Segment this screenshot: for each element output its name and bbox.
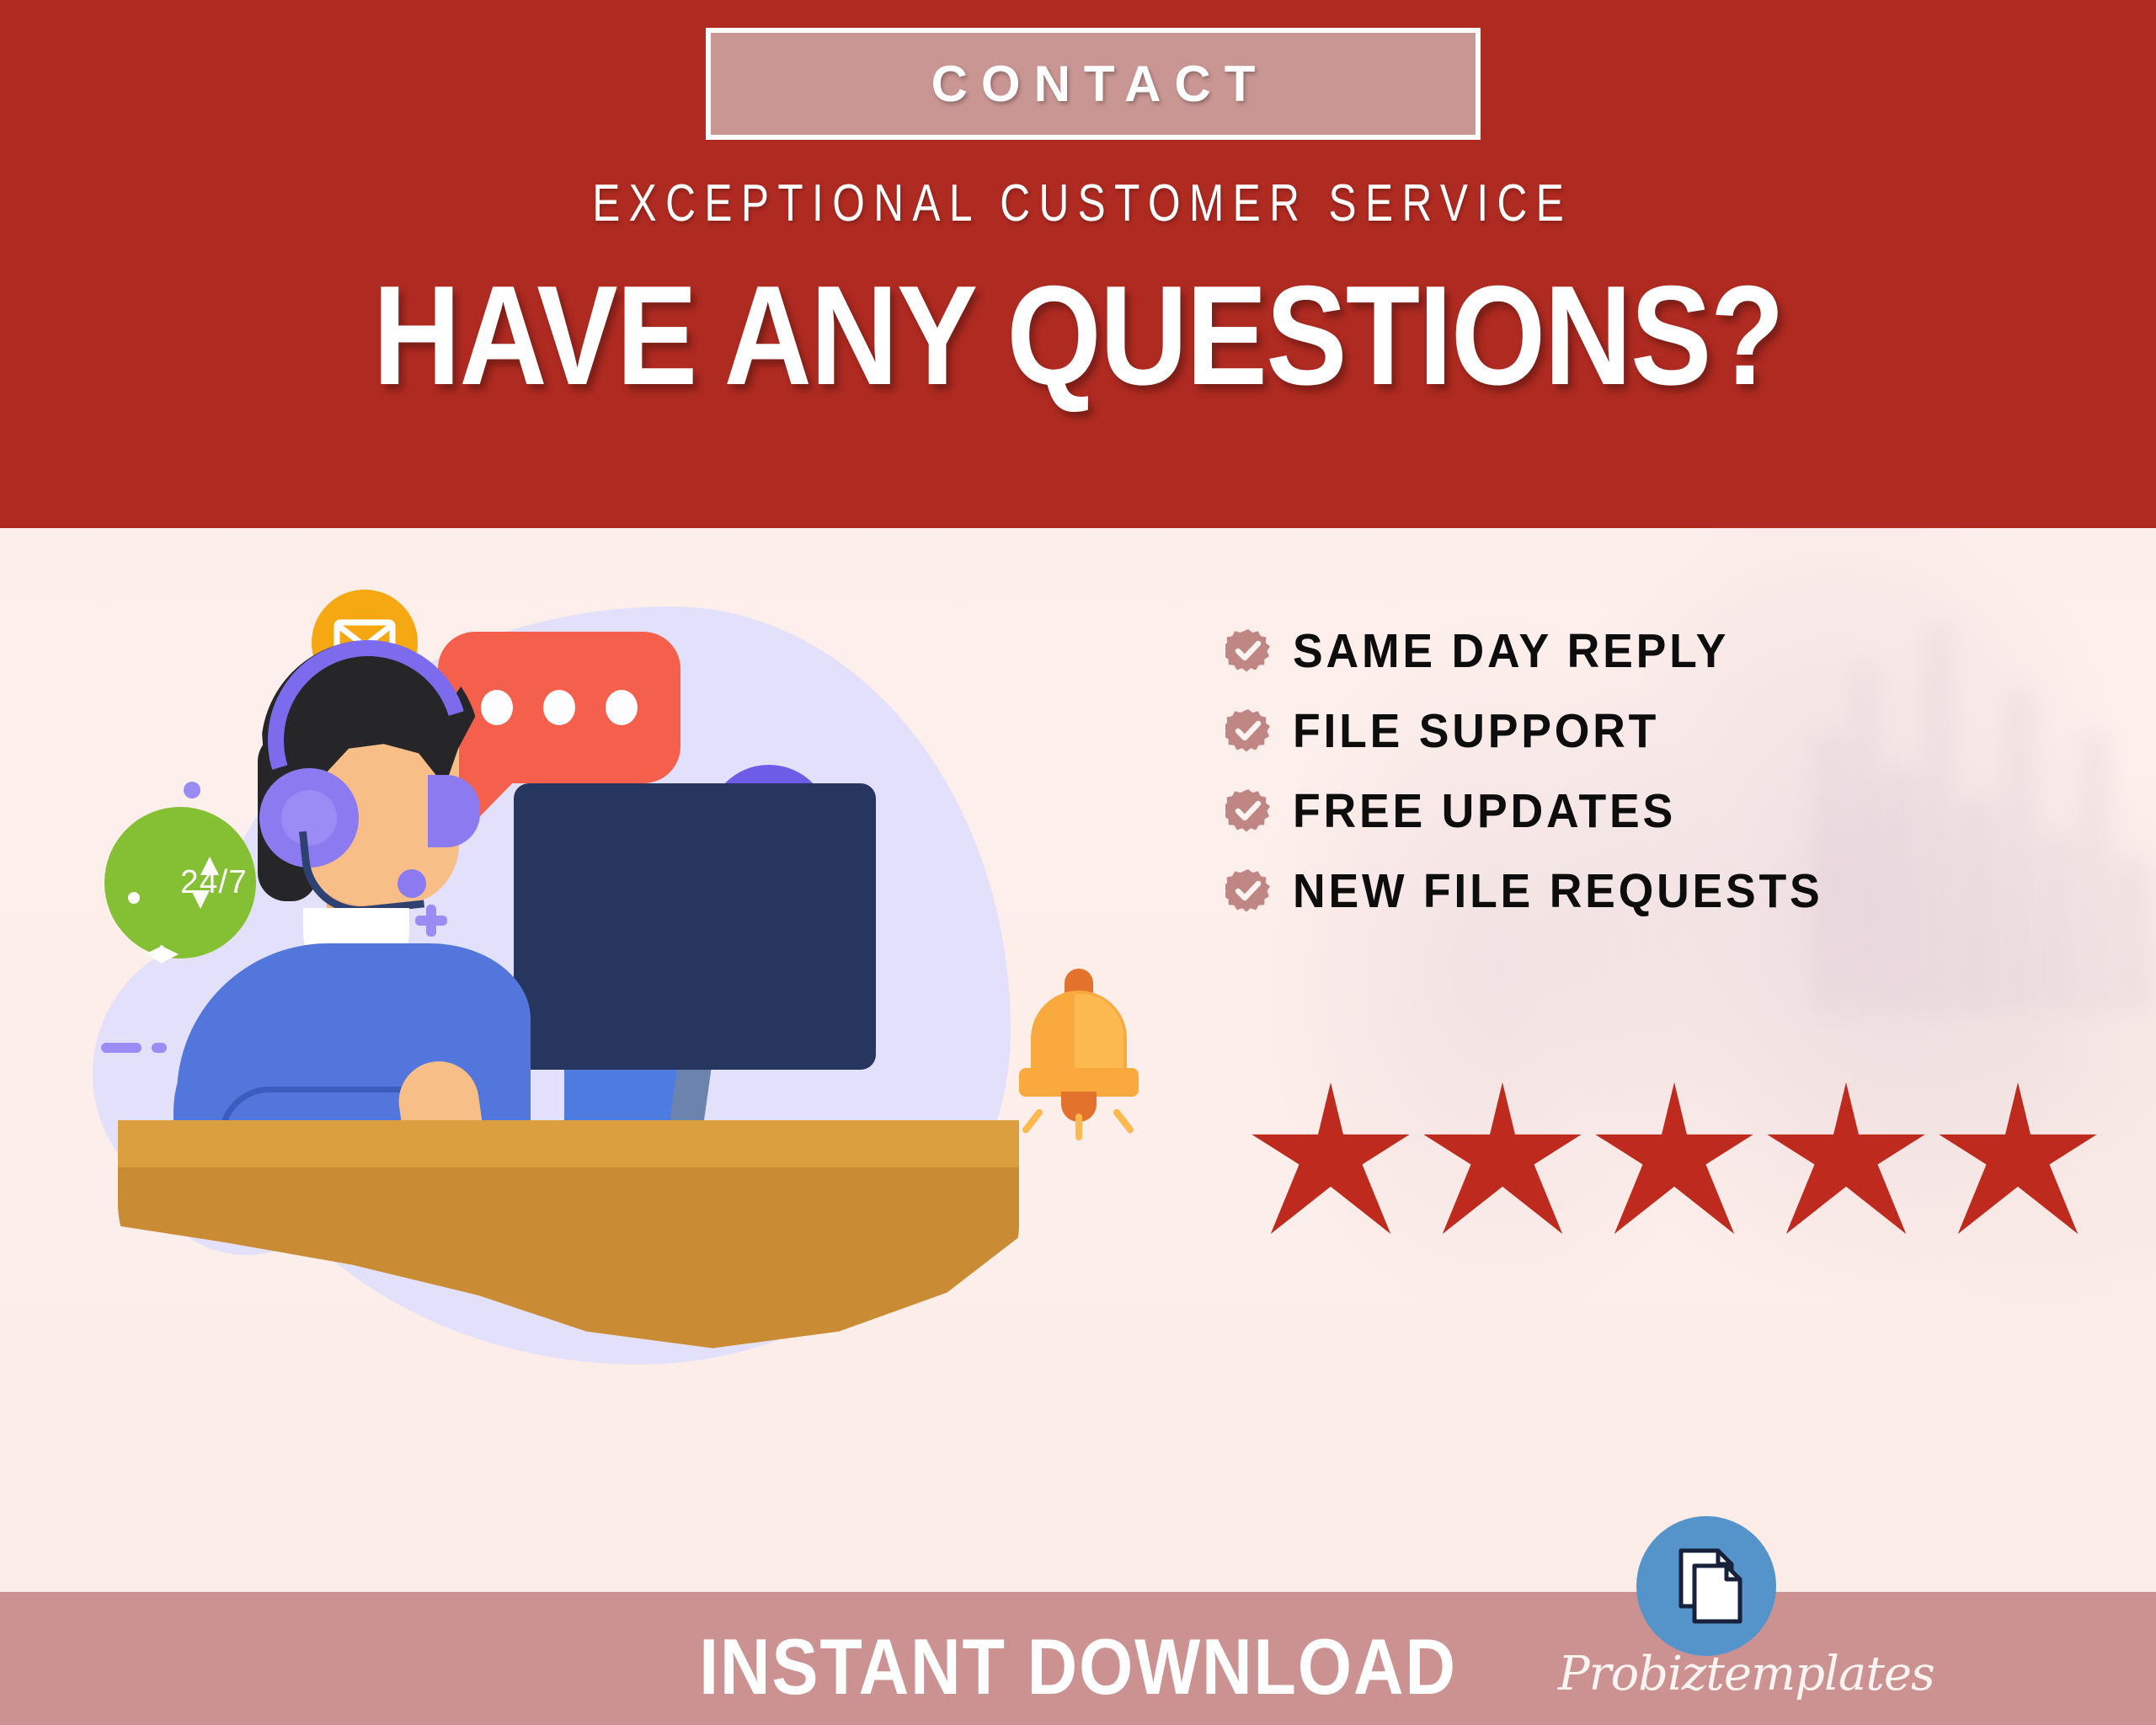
plus-decoration-2	[415, 905, 447, 937]
clock-24-7-badge: 24/7	[104, 807, 256, 959]
feature-item: FILE SUPPORT	[1225, 691, 1857, 771]
clock-tick-right	[145, 945, 163, 964]
star-icon	[1251, 1082, 1411, 1238]
customer-support-illustration: 24/7	[93, 539, 1145, 1592]
bell-ray-right	[1112, 1108, 1134, 1135]
rating-stars	[1251, 1082, 2098, 1238]
header-subtitle: EXCEPTIONAL CUSTOMER SERVICE	[216, 174, 1940, 233]
dash-decoration-4	[152, 1043, 167, 1053]
star-icon	[1766, 1082, 1926, 1238]
feature-item: FREE UPDATES	[1225, 771, 1857, 851]
contact-badge-label: CONTACT	[918, 55, 1269, 113]
star-icon	[1594, 1082, 1754, 1238]
brand-name: Probiztemplates	[1558, 1647, 1861, 1701]
check-badge-icon	[1225, 628, 1271, 674]
check-badge-icon	[1225, 708, 1271, 754]
feature-list: SAME DAY REPLY FILE SUPPORT FREE UPDATES	[1225, 611, 1857, 931]
dot-decoration-1	[184, 782, 200, 798]
bell-ray-left	[1021, 1108, 1043, 1135]
bell-highlight	[1075, 994, 1123, 1078]
feature-label: FILE SUPPORT	[1293, 703, 1659, 759]
chat-dot-2	[543, 690, 575, 725]
feature-label: NEW FILE REQUESTS	[1293, 863, 1823, 919]
star-icon	[1938, 1082, 2098, 1238]
clock-label: 24/7	[180, 864, 248, 901]
feature-item: NEW FILE REQUESTS	[1225, 851, 1857, 931]
headset-mic-tip	[398, 869, 426, 898]
monitor-screen	[514, 783, 876, 1070]
notification-bell-icon	[1019, 969, 1137, 1129]
contact-badge: CONTACT	[706, 28, 1481, 140]
chat-dot-3	[606, 690, 638, 725]
chat-bubble-icon	[438, 632, 680, 783]
feature-label: SAME DAY REPLY	[1293, 623, 1729, 679]
clock-ring	[128, 892, 140, 904]
feature-label: FREE UPDATES	[1293, 783, 1676, 839]
feature-item: SAME DAY REPLY	[1225, 611, 1857, 691]
chat-dot-1	[481, 690, 513, 725]
star-icon	[1422, 1082, 1582, 1238]
promo-banner: CONTACT EXCEPTIONAL CUSTOMER SERVICE HAV…	[0, 0, 2156, 1725]
dash-decoration-3	[101, 1043, 141, 1053]
check-badge-icon	[1225, 788, 1271, 834]
documents-copy-icon	[1636, 1516, 1776, 1656]
desk-surface	[118, 1120, 1019, 1167]
check-badge-icon	[1225, 868, 1271, 914]
background-blur-photo	[1811, 539, 2156, 1011]
header-headline: HAVE ANY QUESTIONS?	[151, 261, 2005, 409]
bell-ray-center	[1075, 1114, 1082, 1140]
